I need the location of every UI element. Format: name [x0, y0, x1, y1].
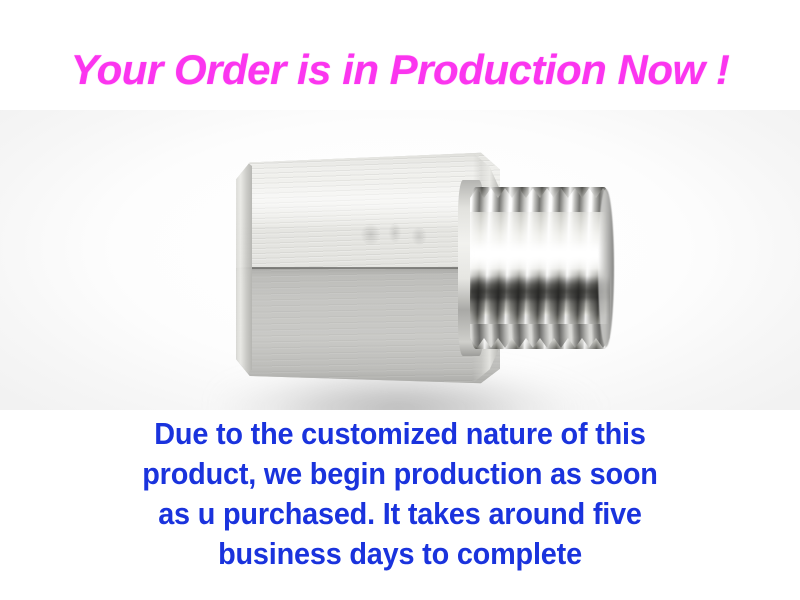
thread-end-cap [598, 189, 614, 347]
thread-specular-highlight [470, 240, 610, 269]
notice-line-2: product, we begin production as soon [28, 454, 772, 494]
production-notice-text: Due to the customized nature of this pro… [0, 414, 800, 574]
thread-shadow-valley [470, 276, 610, 302]
product-photo [0, 110, 800, 410]
notice-line-3: as u purchased. It takes around five [28, 494, 772, 534]
hex-pipe-adapter-fitting [222, 140, 612, 390]
threaded-nipple [470, 187, 610, 349]
notice-line-4: business days to complete [28, 534, 772, 574]
notice-banner: Your Order is in Production Now ! [0, 0, 800, 600]
notice-line-1: Due to the customized nature of this [28, 414, 772, 454]
page-title: Your Order is in Production Now ! [0, 46, 800, 94]
hex-facet-edge [236, 267, 494, 269]
hex-left-chamfer [228, 158, 252, 379]
hex-stamped-marking [356, 213, 438, 256]
